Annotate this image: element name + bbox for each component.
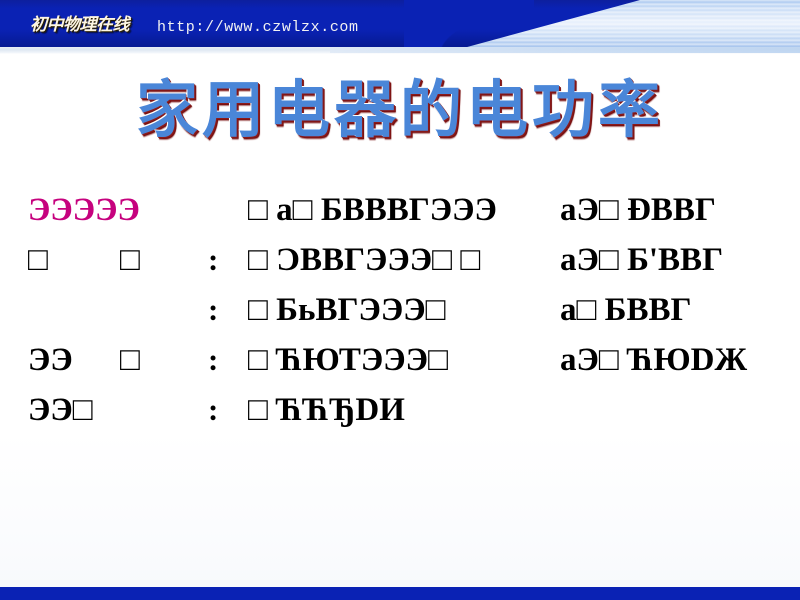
banner-diagonal-curve [404, 0, 534, 47]
row-middle: □ ƆВВГЭЭЭ□ □ [248, 236, 480, 284]
row-middle: □ ЋЋЂDИ [248, 386, 405, 434]
table-row: ЭЭ□ : □ ЋЋЂDИ [0, 386, 800, 436]
table-row: ЭЭЭЭЭ □ а□ БВВВГЭЭЭ аЭ□ ÐВВГ [0, 186, 800, 236]
row-label-2: □ [120, 336, 140, 384]
page-title: 家用电器的电功率 [0, 72, 800, 150]
row-colon: : [208, 286, 218, 334]
row-middle: □ ЋЮТЭЭЭ□ [248, 336, 448, 384]
table-row: ЭЭ □ : □ ЋЮТЭЭЭ□ аЭ□ ЋЮDЖ [0, 336, 800, 386]
site-url-text: http://www.czwlzx.com [157, 19, 359, 37]
row-label-2: □ [120, 236, 140, 284]
row-middle: □ а□ БВВВГЭЭЭ [248, 186, 497, 234]
row-right: аЭ□ ÐВВГ [560, 186, 716, 234]
row-right: а□ БВВГ [560, 286, 692, 334]
table-row: □ □ : □ ƆВВГЭЭЭ□ □ аЭ□ Б'ВВГ [0, 236, 800, 286]
row-middle: □ БьВГЭЭЭ□ [248, 286, 446, 334]
content-table: ЭЭЭЭЭ □ а□ БВВВГЭЭЭ аЭ□ ÐВВГ □ □ : □ ƆВВ… [0, 186, 800, 436]
row-right: аЭ□ ЋЮDЖ [560, 336, 747, 384]
row-label: □ [28, 236, 48, 284]
table-row: : □ БьВГЭЭЭ□ а□ БВВГ [0, 286, 800, 336]
row-label: ЭЭ [28, 336, 73, 384]
row-colon: : [208, 386, 218, 434]
row-label: ЭЭ□ [28, 386, 93, 434]
footer-bar [0, 587, 800, 600]
row-colon: : [208, 336, 218, 384]
site-logo: 初中物理在线 [30, 16, 129, 34]
row-label: ЭЭЭЭЭ [28, 186, 140, 234]
row-colon: : [208, 236, 218, 284]
slide-canvas: 初中物理在线 http://www.czwlzx.com 家用电器的电功率 ЭЭ… [0, 0, 800, 600]
row-right: аЭ□ Б'ВВГ [560, 236, 723, 284]
banner-underline-right [330, 47, 800, 53]
